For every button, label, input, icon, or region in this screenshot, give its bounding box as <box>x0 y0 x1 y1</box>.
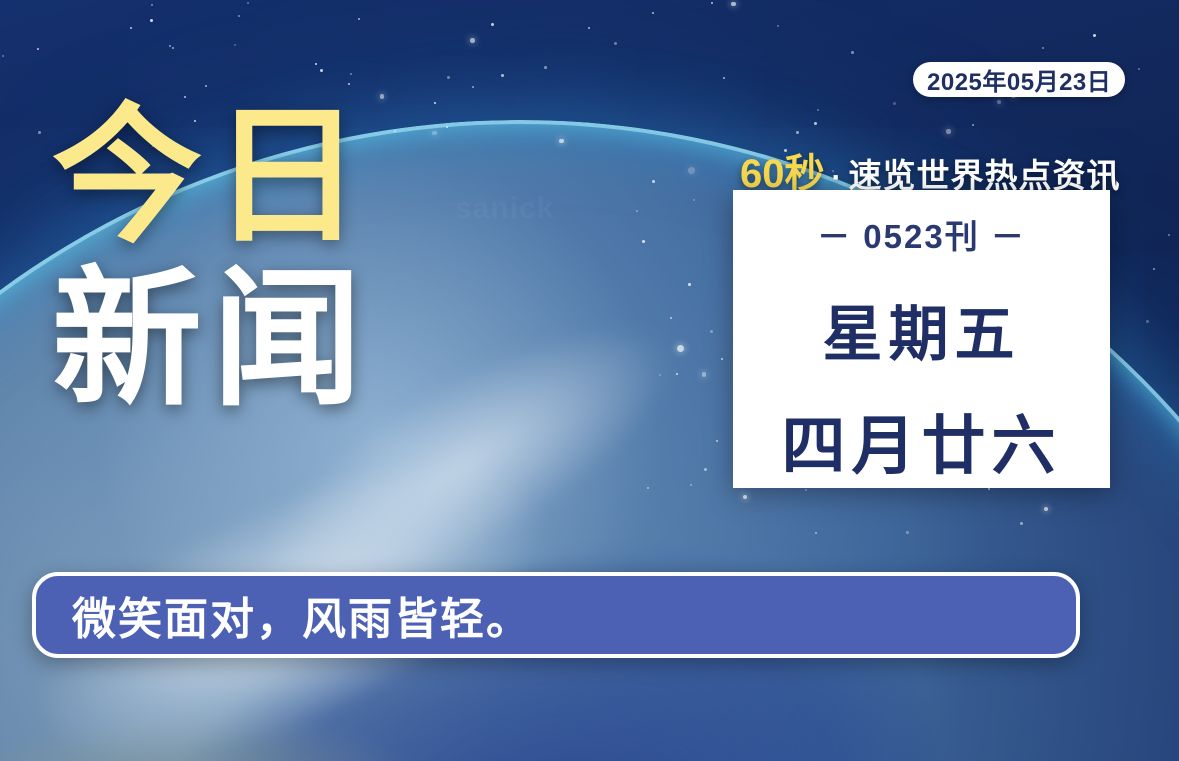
lunar-date-label: 四月廿六 <box>782 395 1062 487</box>
issue-number: － 0523刊 － <box>817 210 1026 258</box>
date-badge-label: 2025年05月23日 <box>927 62 1111 97</box>
headline-line-news: 新闻 <box>52 267 372 414</box>
news-poster: sanick 今日 新闻 2025年05月23日 60秒 · 速览世界热点资讯 … <box>0 0 1179 761</box>
quote-bar: 微笑面对，风雨皆轻。 <box>32 572 1080 658</box>
headline-line-today: 今日 <box>52 104 372 251</box>
quote-text: 微笑面对，风雨皆轻。 <box>72 583 532 647</box>
watermark-text: sanick <box>455 192 554 226</box>
page-title: 今日 新闻 <box>52 104 372 414</box>
info-card: － 0523刊 － 星期五 四月廿六 <box>733 190 1110 488</box>
date-badge: 2025年05月23日 <box>913 62 1125 97</box>
weekday-label: 星期五 <box>823 286 1021 373</box>
